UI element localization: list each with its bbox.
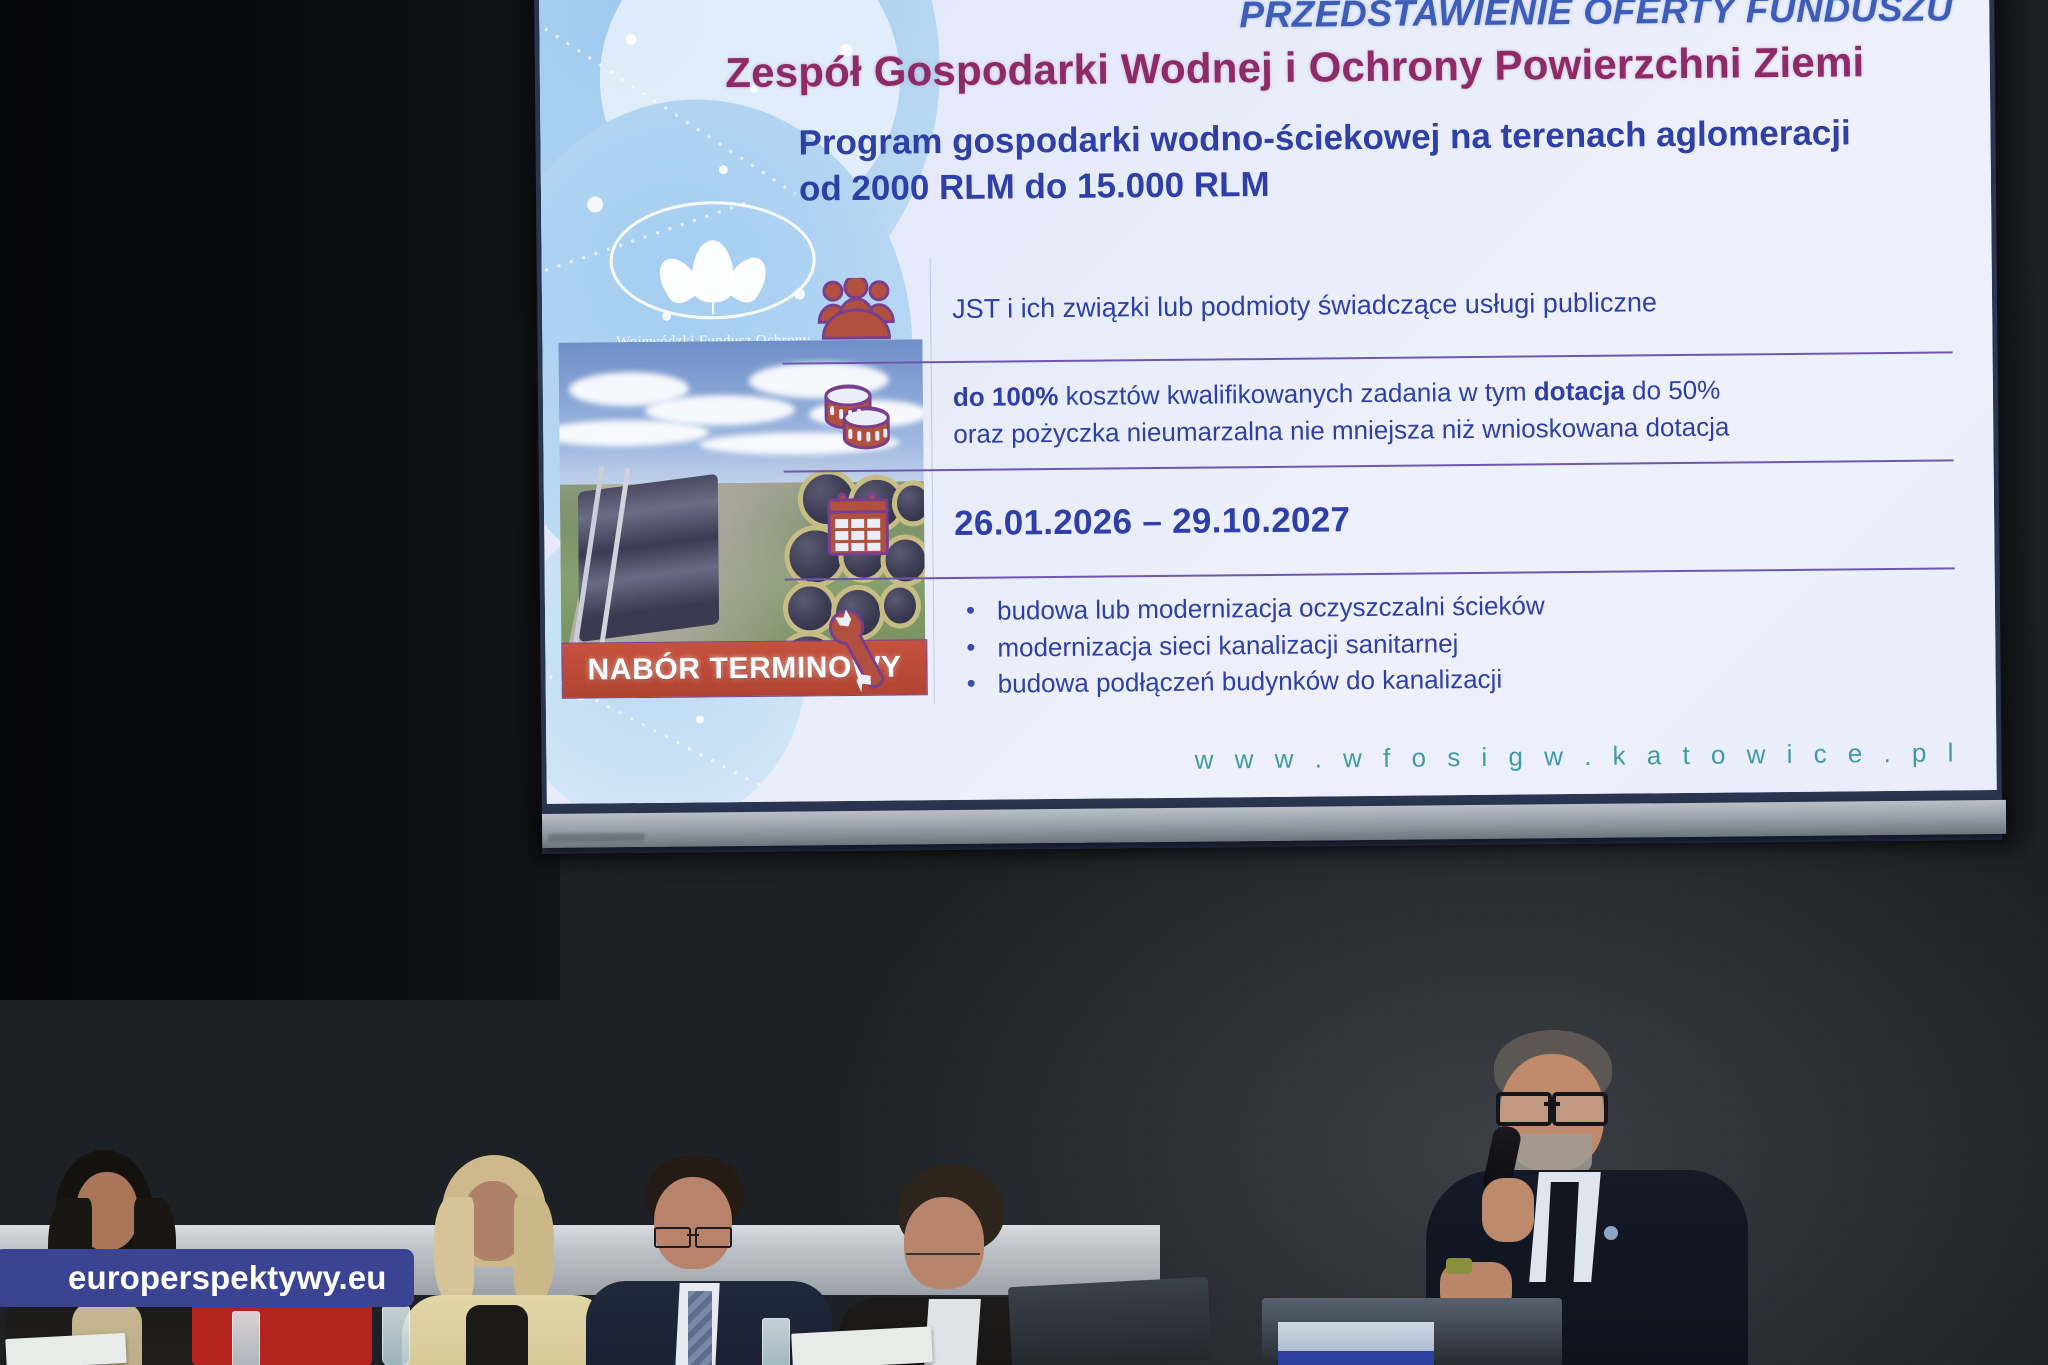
face: [904, 1197, 984, 1289]
necktie: [1545, 1182, 1579, 1290]
inner-top: [466, 1305, 528, 1365]
financing-bold-a: do 100%: [953, 381, 1059, 412]
water-glass: [232, 1311, 260, 1365]
lectern-monitor: [1278, 1322, 1434, 1365]
row-beneficiaries-text: JST i ich związki lub podmioty świadcząc…: [930, 284, 1952, 325]
decor-bubble: [696, 715, 704, 723]
row-dates: 26.01.2026 – 29.10.2027: [784, 461, 1955, 580]
offer-detail-rows: JST i ich związki lub podmioty świadcząc…: [782, 247, 1956, 705]
leaf-center-shape: [691, 240, 734, 302]
decor-bubble: [625, 34, 636, 45]
water-glass: [382, 1306, 410, 1365]
leaf-stem-shape: [712, 294, 714, 314]
people-group-icon: [782, 277, 931, 342]
glasses-icon: [654, 1227, 732, 1244]
row-beneficiaries: JST i ich związki lub podmioty świadcząc…: [782, 247, 1953, 364]
presentation-clicker: [1446, 1258, 1472, 1274]
row-financing: do 100% kosztów kwalifikowanych zadania …: [783, 353, 1954, 472]
site-watermark: europerspektywy.eu: [0, 1249, 414, 1307]
financing-mid: kosztów kwalifikowanych zadania w tym: [1058, 377, 1534, 412]
panelist-2-woman-blonde: [414, 1155, 604, 1365]
row-financing-text: do 100% kosztów kwalifikowanych zadania …: [931, 369, 1954, 453]
decor-bubble: [719, 165, 728, 174]
water-glass: [762, 1318, 790, 1365]
dark-left-wall: [0, 0, 560, 1000]
hand-holding-microphone: [1482, 1178, 1534, 1242]
slide-subtitle: Program gospodarki wodno-ściekowej na te…: [798, 110, 1891, 213]
hair-side: [514, 1197, 554, 1301]
calendar-icon: [784, 491, 933, 558]
row-dates-text: 26.01.2026 – 29.10.2027: [932, 494, 1954, 544]
eligible-works-list: budowa lub modernizacja oczyszczalni ści…: [955, 583, 1956, 703]
papers: [5, 1333, 126, 1365]
screenshot-root: Wojewódzki Fundusz Ochrony Środowiska i …: [0, 0, 2048, 1365]
necktie: [688, 1291, 712, 1365]
table-monitor: [1008, 1277, 1212, 1365]
financing-bold-b: dotacja: [1534, 376, 1625, 407]
wrench-icon: [785, 605, 934, 692]
lapel-pin: [1604, 1226, 1618, 1240]
projection-screen: Wojewódzki Fundusz Ochrony Środowiska i …: [534, 0, 2002, 854]
row-eligible-works-text: budowa lub modernizacja oczyszczalni ści…: [933, 583, 1956, 704]
financing-end: do 50%: [1625, 375, 1721, 406]
coins-stack-icon: [783, 381, 932, 452]
glasses-icon: [1496, 1092, 1608, 1118]
hair-side: [434, 1197, 474, 1301]
row-eligible-works: budowa lub modernizacja oczyszczalni ści…: [785, 569, 1956, 718]
glasses-icon: [906, 1253, 980, 1269]
papers: [791, 1326, 933, 1365]
presentation-slide: Wojewódzki Fundusz Ochrony Środowiska i …: [539, 0, 1997, 804]
pipe-bodies: [578, 474, 719, 643]
watermark-label: europerspektywy.eu: [68, 1259, 386, 1297]
face: [654, 1177, 732, 1269]
